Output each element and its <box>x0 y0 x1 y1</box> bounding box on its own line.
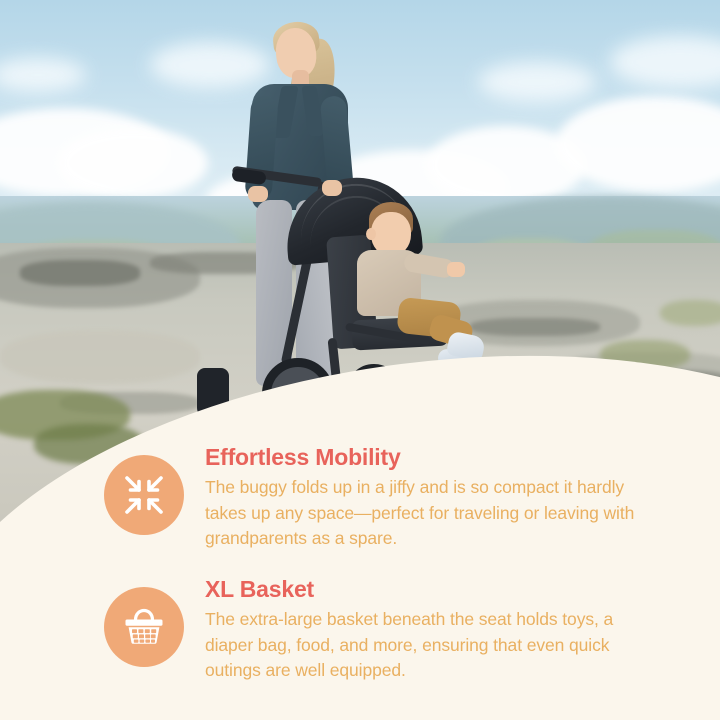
feature-text-block: XL Basket The extra-large basket beneath… <box>205 575 635 684</box>
feature-text-block: Effortless Mobility The buggy folds up i… <box>205 443 635 552</box>
feature-item-effortless-mobility: Effortless Mobility The buggy folds up i… <box>104 443 635 552</box>
feature-title: Effortless Mobility <box>205 443 635 471</box>
feature-card: Effortless Mobility The buggy folds up i… <box>0 0 720 720</box>
compress-arrows-icon <box>122 473 166 517</box>
feature-description: The buggy folds up in a jiffy and is so … <box>205 475 635 552</box>
shopping-basket-icon <box>122 605 166 649</box>
compress-arrows-icon-badge <box>104 455 184 535</box>
features-content: Effortless Mobility The buggy folds up i… <box>0 0 720 720</box>
feature-description: The extra-large basket beneath the seat … <box>205 607 635 684</box>
shopping-basket-icon-badge <box>104 587 184 667</box>
feature-item-xl-basket: XL Basket The extra-large basket beneath… <box>104 575 635 684</box>
feature-title: XL Basket <box>205 575 635 603</box>
